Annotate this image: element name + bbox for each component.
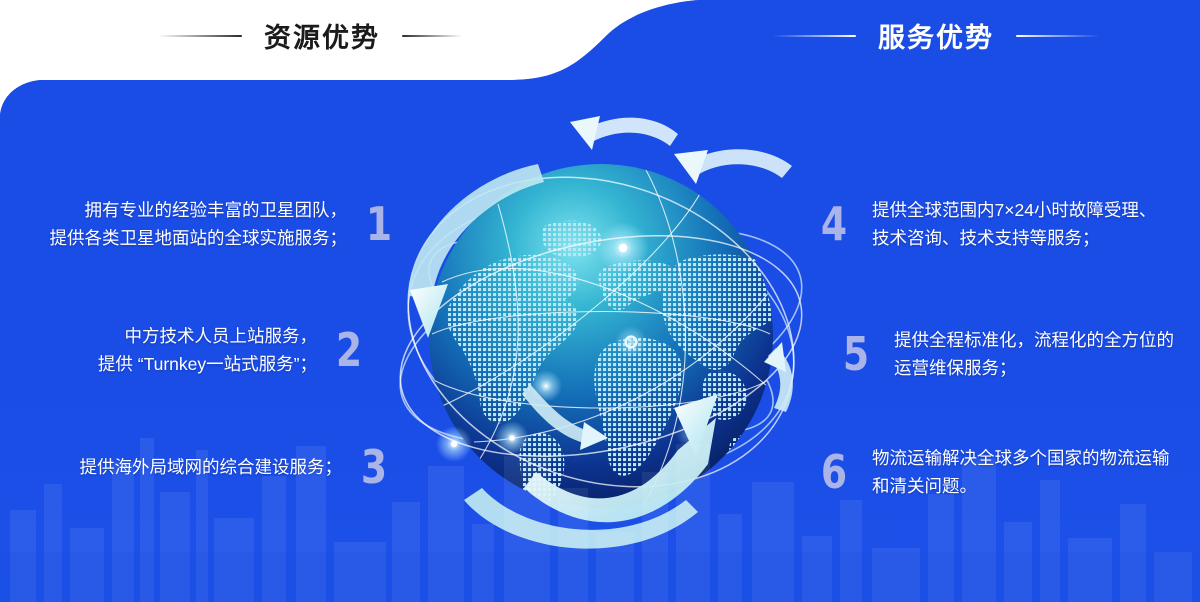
feature-item-6: 6 物流运输解决全球多个国家的物流运输 和清关问题。 xyxy=(818,444,1170,501)
title-rule-left-start xyxy=(158,35,242,37)
feature-item-5: 5 提供全程标准化，流程化的全方位的 运营维保服务； xyxy=(840,326,1174,383)
feature-item-3-number: 3 xyxy=(361,444,387,490)
title-rule-right-end xyxy=(1016,35,1100,37)
feature-item-1-number: 1 xyxy=(366,201,392,247)
feature-item-3: 提供海外局域网的综合建设服务； 3 xyxy=(0,444,390,490)
feature-item-4-number: 4 xyxy=(821,201,847,247)
feature-item-2-text: 中方技术人员上站服务， 提供 “Turnkey一站式服务”； xyxy=(98,322,317,379)
globe-network-illustration xyxy=(378,108,824,554)
section-title-right-text: 服务优势 xyxy=(878,16,994,55)
slide-canvas: 资源优势 服务优势 xyxy=(0,0,1200,602)
feature-item-3-text: 提供海外局域网的综合建设服务； xyxy=(79,453,342,481)
feature-item-1-text: 拥有专业的经验丰富的卫星团队， 提供各类卫星地面站的全球实施服务； xyxy=(49,196,347,253)
feature-item-6-text: 物流运输解决全球多个国家的物流运输 和清关问题。 xyxy=(872,444,1170,501)
title-rule-right-start xyxy=(772,35,856,37)
feature-item-5-text: 提供全程标准化，流程化的全方位的 运营维保服务； xyxy=(894,326,1174,383)
feature-item-4: 4 提供全球范围内7×24小时故障受理、 技术咨询、技术支持等服务； xyxy=(818,196,1156,253)
section-title-right: 服务优势 xyxy=(772,16,1100,55)
feature-item-2-number: 2 xyxy=(336,327,362,373)
feature-item-6-number: 6 xyxy=(821,449,847,495)
feature-item-2: 中方技术人员上站服务， 提供 “Turnkey一站式服务”； 2 xyxy=(0,322,365,379)
feature-item-5-number: 5 xyxy=(843,331,869,377)
feature-item-4-text: 提供全球范围内7×24小时故障受理、 技术咨询、技术支持等服务； xyxy=(872,196,1156,253)
title-rule-left-end xyxy=(402,35,462,37)
feature-item-1: 拥有专业的经验丰富的卫星团队， 提供各类卫星地面站的全球实施服务； 1 xyxy=(0,196,395,253)
section-title-left-text: 资源优势 xyxy=(264,16,380,55)
section-title-left: 资源优势 xyxy=(158,16,462,55)
